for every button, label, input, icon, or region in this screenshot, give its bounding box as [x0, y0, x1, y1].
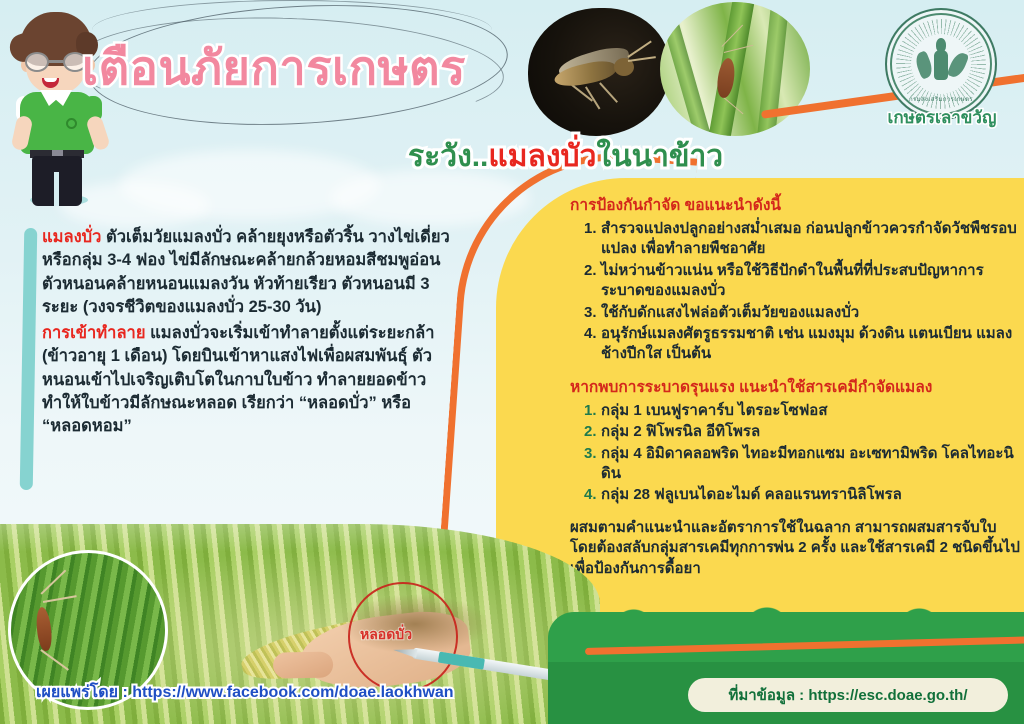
seal-garuda-figure-icon	[923, 36, 959, 94]
boy-pants	[32, 156, 82, 206]
list-text: ไม่หว่านข้าวแน่น หรือใช้วิธีปักดำในพื้นท…	[601, 262, 984, 299]
publisher-credit[interactable]: เผยแพร่โดย : https://www.facebook.com/do…	[36, 680, 453, 705]
list-number: 1.	[584, 219, 597, 239]
list-item: 3.กลุ่ม 4 อิมิดาคลอพริด ไทอะมีทอกแซม อะเ…	[584, 444, 1022, 485]
subtitle-part-location: ในนาข้าว	[596, 140, 723, 173]
rice-leaf-blade	[660, 3, 714, 136]
seal-inscription: กรมส่งเสริมการเกษตร	[887, 94, 995, 104]
list-number: 3.	[584, 303, 597, 323]
glasses-lens-left	[25, 52, 49, 72]
midge-antenna	[627, 41, 651, 58]
prevention-list: 1.สำรวจแปลงปลูกอย่างสม่ำเสมอ ก่อนปลูกข้า…	[570, 219, 1022, 365]
list-item: 4.กลุ่ม 28 ฟลูเบนไดอะไมด์ คลอแรนทรานิลิโ…	[584, 485, 1022, 505]
pest-description-paragraph: แมลงบั่ว ตัวเต็มวัยแมลงบั่ว คล้ายยุงหรือ…	[42, 226, 460, 320]
source-credit[interactable]: ที่มาข้อมูล : https://esc.doae.go.th/	[688, 678, 1008, 712]
damage-description-paragraph: การเข้าทำลาย แมลงบั่วจะเริ่มเข้าทำลายตั้…	[42, 322, 460, 439]
recommendations-column: การป้องกันกำจัด ขอแนะนำดังนี้ 1.สำรวจแปล…	[570, 195, 1022, 579]
infographic-poster: เตือนภัยการเกษตร กรมส่งเสริมการเกษตร	[0, 0, 1024, 724]
list-text: กลุ่ม 4 อิมิดาคลอพริด ไทอะมีทอกแซม อะเซท…	[601, 445, 1014, 482]
page-subtitle: ระวัง..แมลงบั่วในนาข้าว	[408, 133, 723, 180]
list-text: กลุ่ม 1 เบนฟูราคาร์บ ไตรอะโซฟอส	[601, 402, 827, 419]
list-number: 2.	[584, 422, 597, 442]
chemical-group-list: 1.กลุ่ม 1 เบนฟูราคาร์บ ไตรอะโซฟอส 2.กลุ่…	[570, 401, 1022, 506]
damage-annotation-label: หลอดบั่ว	[360, 624, 412, 646]
seal-torso	[934, 50, 948, 80]
midge-antenna	[628, 56, 656, 62]
pest-description-column: แมลงบั่ว ตัวเต็มวัยแมลงบั่ว คล้ายยุงหรือ…	[42, 226, 460, 441]
list-text: ใช้กับดักแสงไฟล่อตัวเต็มวัยของแมลงบั่ว	[601, 304, 859, 321]
pest-description-body: ตัวเต็มวัยแมลงบั่ว คล้ายยุงหรือตัวริ้น ว…	[42, 228, 450, 316]
list-number: 3.	[584, 444, 597, 464]
page-title: เตือนภัยการเกษตร	[82, 44, 466, 91]
subtitle-part-pest: แมลงบั่ว	[488, 140, 596, 173]
list-text: กลุ่ม 28 ฟลูเบนไดอะไมด์ คลอแรนทรานิลิโพร…	[601, 486, 902, 503]
list-item: 2.ไม่หว่านข้าวแน่น หรือใช้วิธีปักดำในพื้…	[584, 261, 1022, 302]
list-item: 1.กลุ่ม 1 เบนฟูราคาร์บ ไตรอะโซฟอส	[584, 401, 1022, 421]
teal-accent-bar	[20, 228, 38, 490]
boy-glasses-icon	[23, 52, 89, 72]
cartoon-farmer-boy-illustration	[6, 8, 110, 208]
gall-midge-photo-on-rice-leaf	[660, 2, 810, 136]
gall-midge-photo-dark	[528, 8, 670, 136]
list-text: อนุรักษ์แมลงศัตรูธรรมชาติ เช่น แมงมุม ด้…	[601, 325, 1012, 362]
office-name-caption: เกษตรเลาขวัญ	[878, 104, 1006, 131]
list-number: 4.	[584, 324, 597, 344]
midge-body	[553, 58, 618, 90]
subtitle-part-warning: ระวัง..	[408, 140, 488, 173]
list-item: 2.กลุ่ม 2 ฟิโพรนิล อีทิโพรล	[584, 422, 1022, 442]
list-number: 4.	[584, 485, 597, 505]
list-number: 2.	[584, 261, 597, 281]
list-text: กลุ่ม 2 ฟิโพรนิล อีทิโพรล	[601, 423, 760, 440]
chemical-section-header: หากพบการระบาดรุนแรง แนะนำใช้สารเคมีกำจัด…	[570, 377, 1022, 398]
boy-shirt-logo	[66, 118, 77, 129]
midge-body	[35, 606, 54, 651]
midge-leg	[599, 82, 618, 102]
glasses-bridge	[49, 60, 63, 63]
list-item: 1.สำรวจแปลงปลูกอย่างสม่ำเสมอ ก่อนปลูกข้า…	[584, 219, 1022, 260]
list-item: 3.ใช้กับดักแสงไฟล่อตัวเต็มวัยของแมลงบั่ว	[584, 303, 1022, 323]
damage-keyword: การเข้าทำลาย	[42, 324, 146, 342]
list-text: สำรวจแปลงปลูกอย่างสม่ำเสมอ ก่อนปลูกข้าวค…	[601, 220, 1017, 257]
list-item: 4.อนุรักษ์แมลงศัตรูธรรมชาติ เช่น แมงมุม …	[584, 324, 1022, 365]
list-number: 1.	[584, 401, 597, 421]
pest-name-keyword: แมลงบั่ว	[42, 228, 101, 246]
mixing-instructions-paragraph: ผสมตามคำแนะนำและอัตราการใช้ในฉลาก สามารถ…	[570, 518, 1022, 579]
prevention-section-header: การป้องกันกำจัด ขอแนะนำดังนี้	[570, 195, 1022, 216]
midge-leg	[41, 649, 69, 670]
midge-leg	[40, 570, 65, 595]
midge-leg	[43, 595, 77, 602]
seal-head	[936, 38, 946, 52]
